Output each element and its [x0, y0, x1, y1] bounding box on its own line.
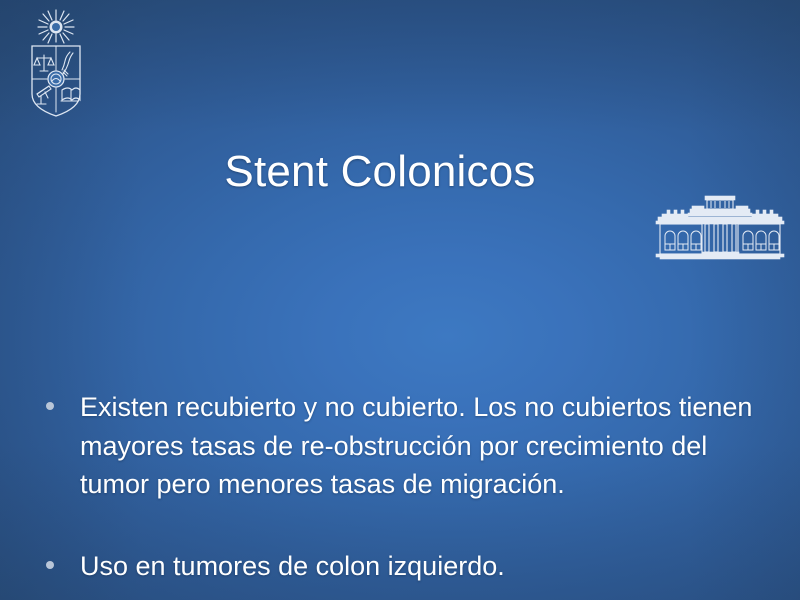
- universidad-de-chile-logo: [20, 8, 92, 120]
- presentation-slide: Stent Colonicos: [0, 0, 800, 600]
- bullet-item-2: Uso en tumores de colon izquierdo.: [36, 547, 756, 585]
- bullet-text-2: Uso en tumores de colon izquierdo.: [80, 547, 756, 585]
- bullet-list: Existen recubierto y no cubierto. Los no…: [36, 388, 756, 600]
- bullet-item-1: Existen recubierto y no cubierto. Los no…: [36, 388, 756, 503]
- bullet-dot-icon: [46, 402, 54, 410]
- coat-of-arms-icon: [20, 8, 92, 120]
- bullet-dot-icon: [46, 561, 54, 569]
- slide-title: Stent Colonicos: [110, 148, 650, 196]
- building-icon: [648, 190, 792, 270]
- hospital-del-salvador-logo: [648, 190, 792, 270]
- bullet-text-1: Existen recubierto y no cubierto. Los no…: [80, 388, 756, 503]
